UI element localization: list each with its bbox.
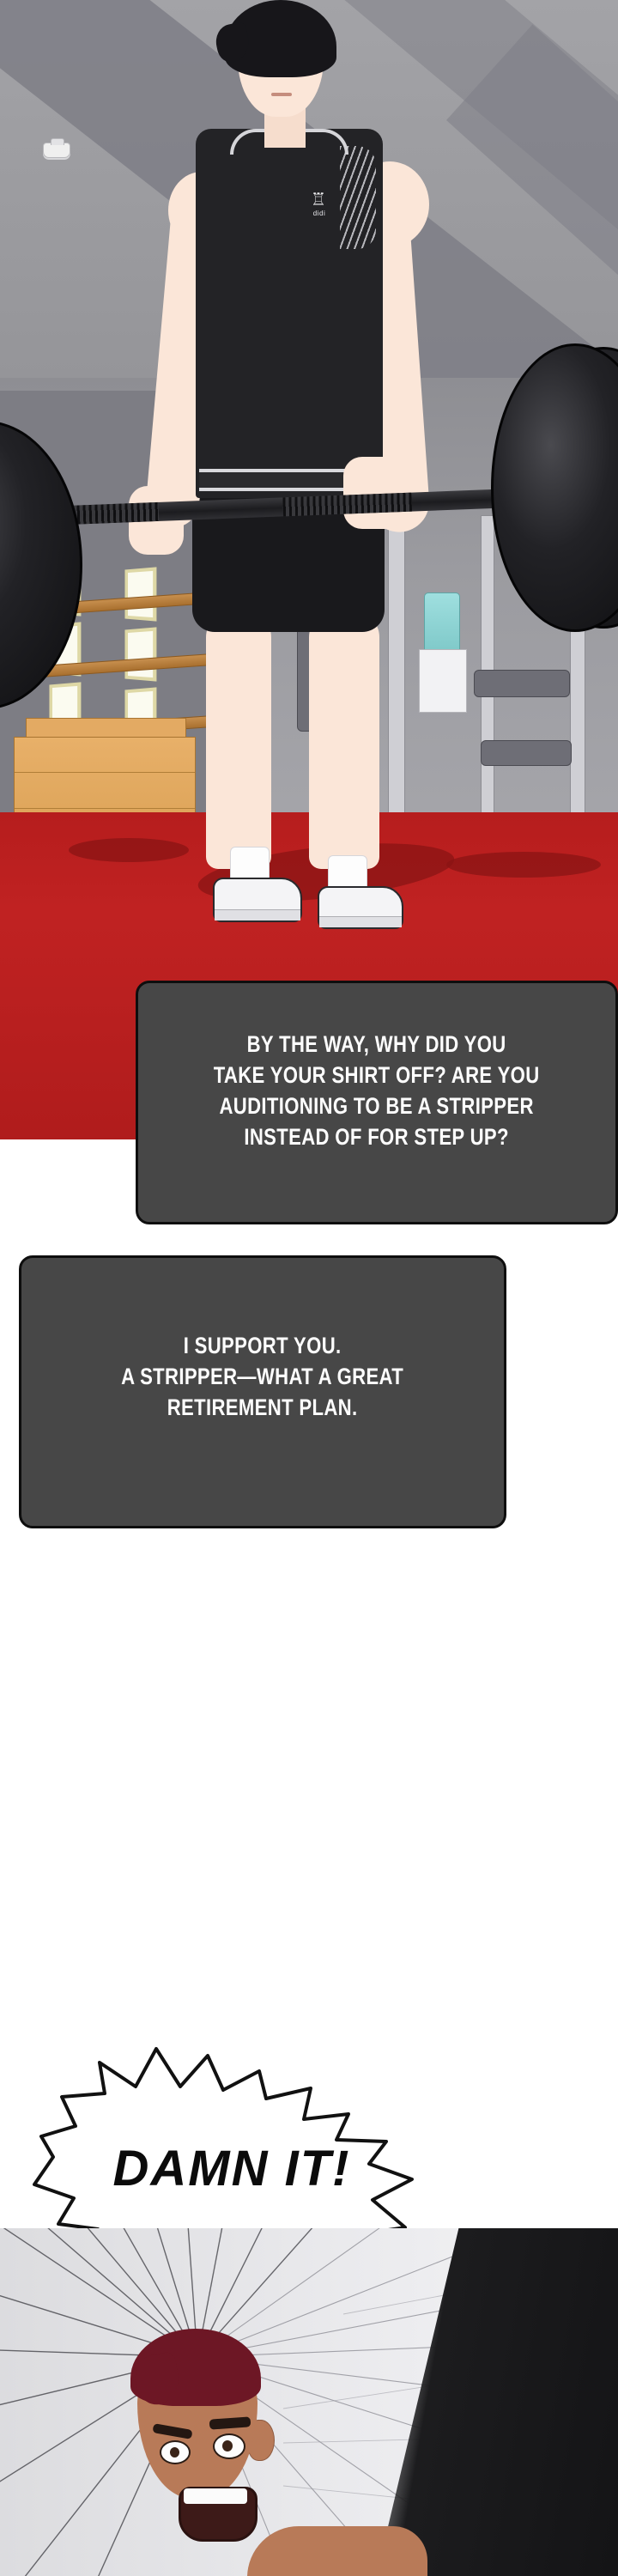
shirt-logo-text: didi — [302, 210, 336, 217]
sneaker-left — [213, 878, 302, 922]
webtoon-page: ♖ didi BY THE WAY, WHY DID YOU TAKE YOUR… — [0, 0, 618, 2576]
leg-right — [309, 611, 379, 869]
teeth — [184, 2488, 247, 2504]
brand-butterfly-icon: ♖ — [307, 191, 330, 210]
shoulder — [247, 2526, 427, 2576]
panel-reaction-shot — [0, 2228, 618, 2576]
mouth — [271, 93, 292, 96]
pupil-right — [222, 2440, 233, 2451]
speech-bubble-2-text: I SUPPORT YOU. A STRIPPER—WHAT A GREAT R… — [121, 1331, 403, 1453]
speech-bubble-1: BY THE WAY, WHY DID YOU TAKE YOUR SHIRT … — [136, 981, 618, 1224]
panel-gym-scene: ♖ didi — [0, 0, 618, 1139]
sneaker-right — [318, 886, 403, 929]
hair — [225, 0, 336, 77]
pupil-left — [170, 2447, 179, 2458]
tank-side-stripes — [340, 146, 376, 249]
speech-bubble-2: I SUPPORT YOU. A STRIPPER—WHAT A GREAT R… — [19, 1255, 506, 1528]
leg-left — [206, 611, 271, 869]
shout-text: DAMN IT! — [9, 2140, 455, 2197]
speech-bubble-1-text: BY THE WAY, WHY DID YOU TAKE YOUR SHIRT … — [214, 1030, 540, 1176]
